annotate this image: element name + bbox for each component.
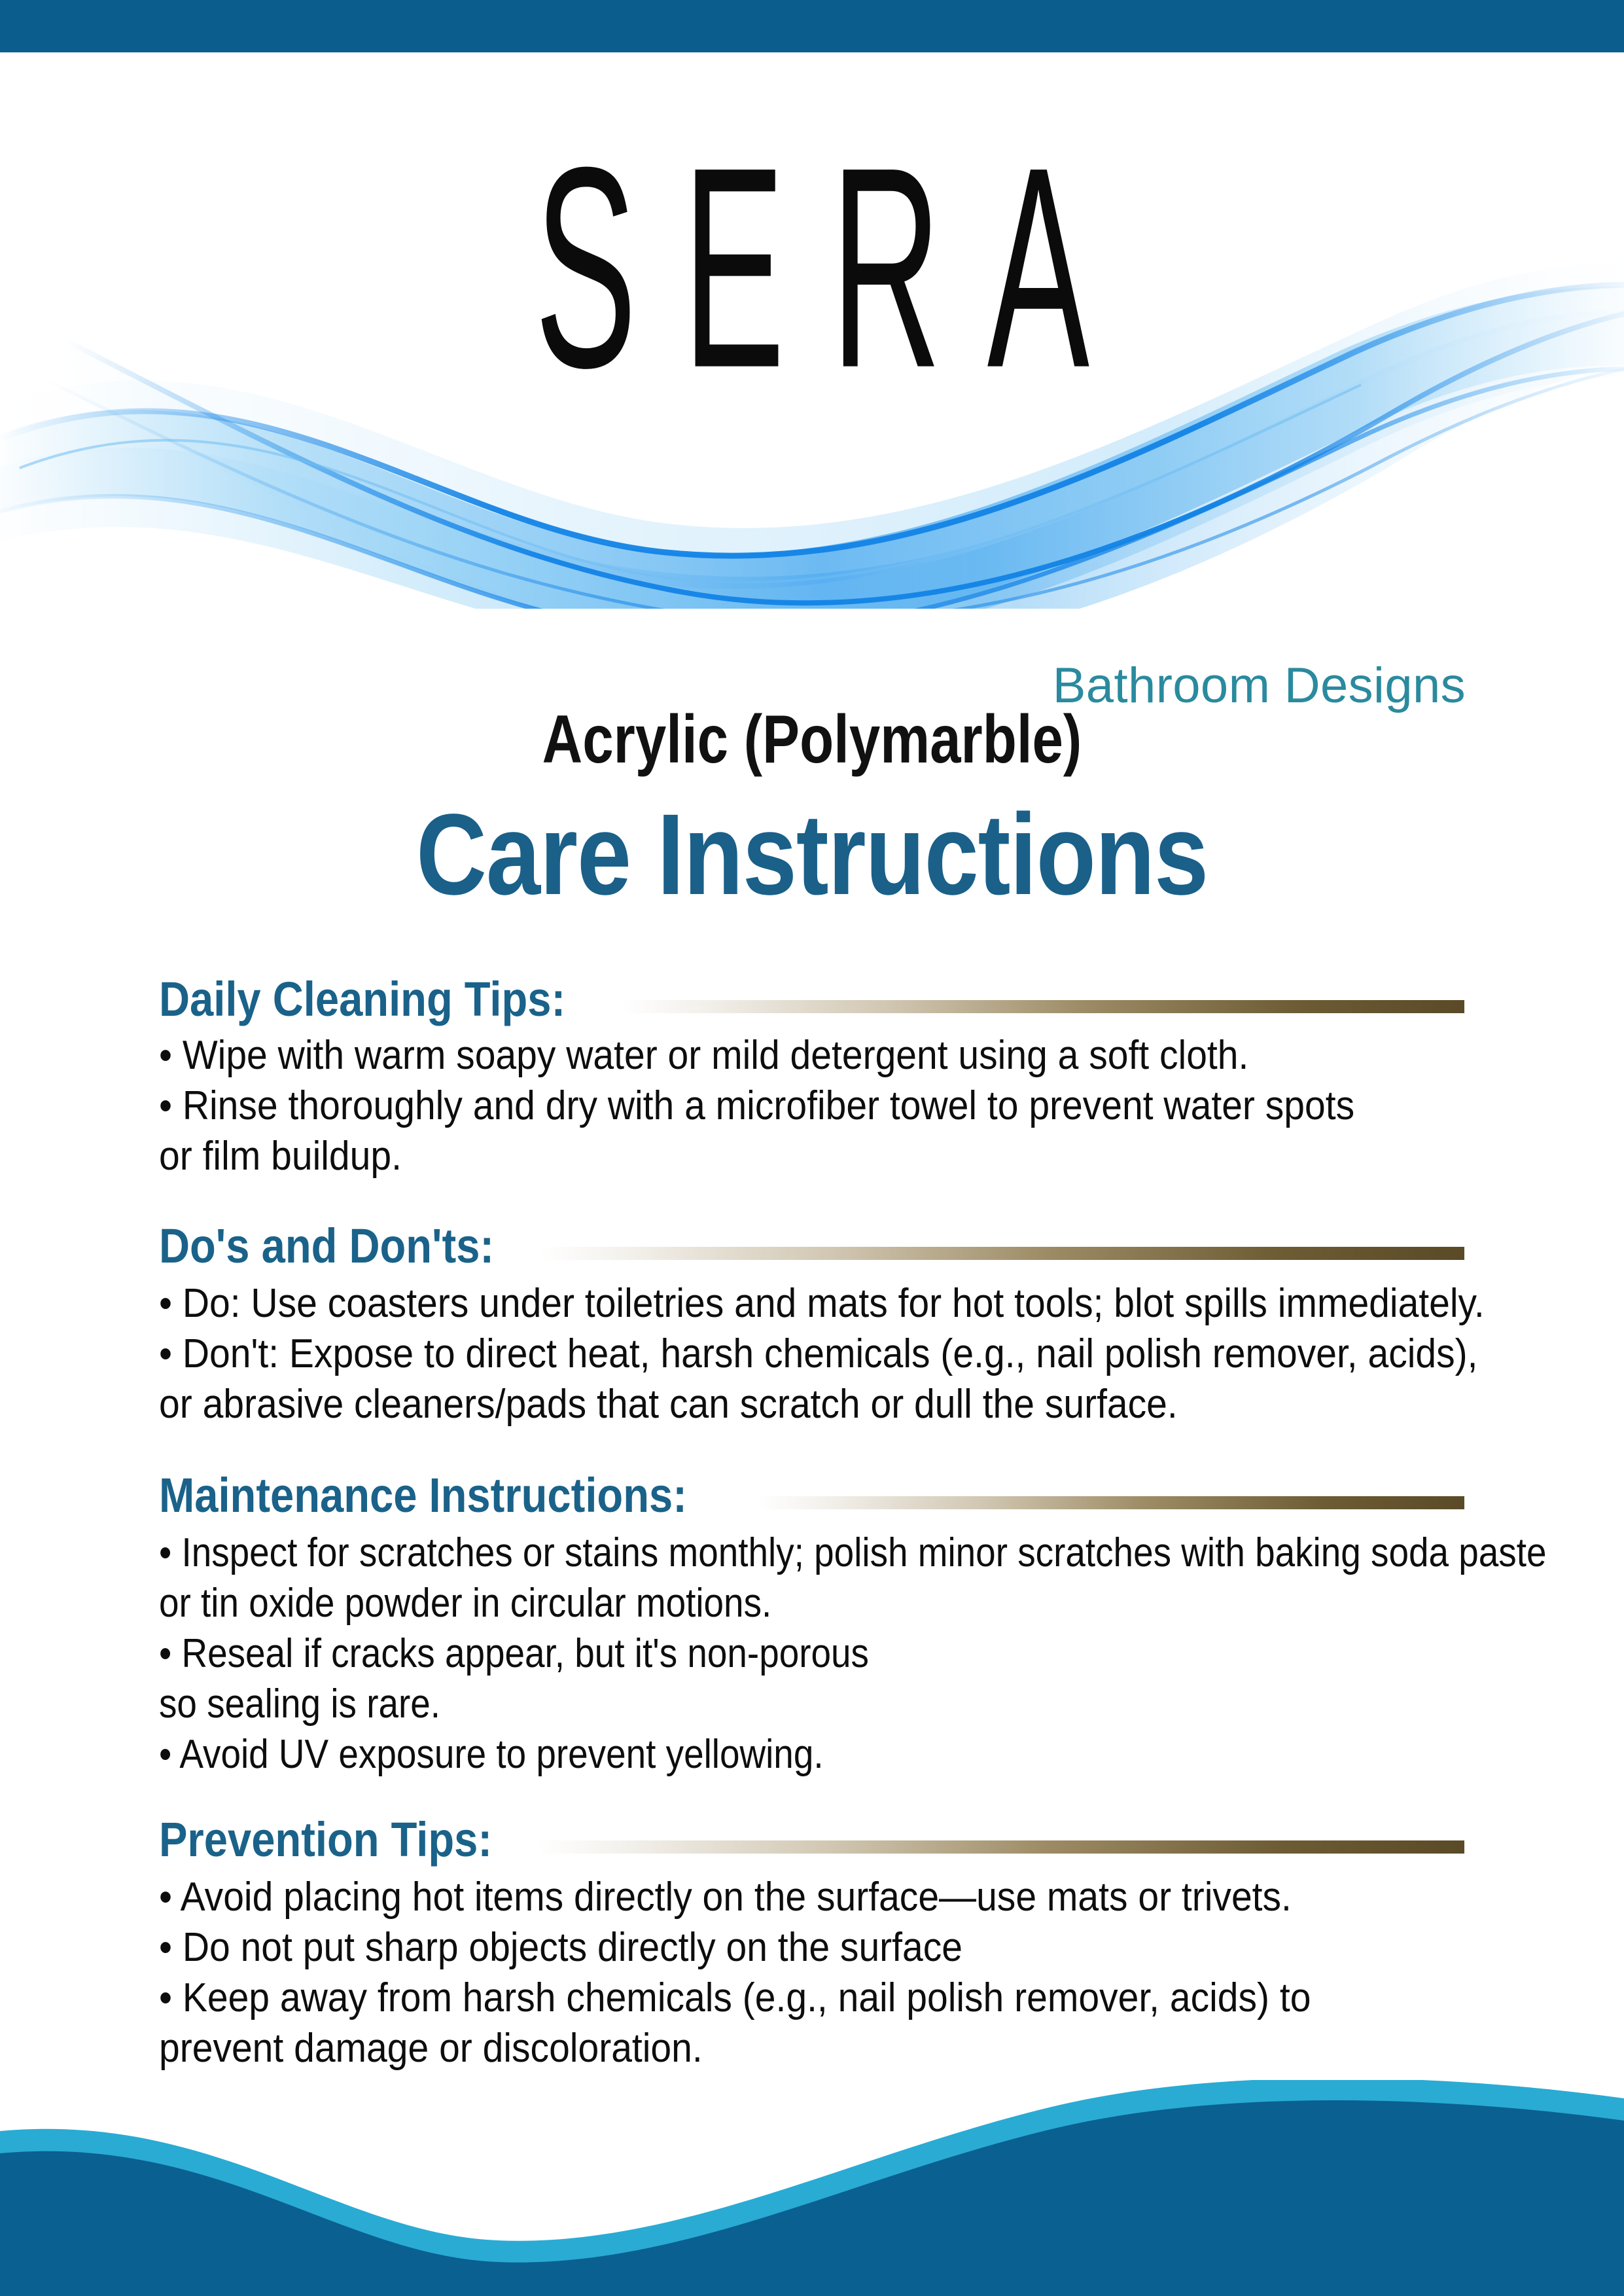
- section-header: Daily Cleaning Tips:: [159, 967, 1464, 1024]
- section-daily-cleaning-tips: Daily Cleaning Tips: • Wipe with warm so…: [159, 967, 1468, 1179]
- bullet-line: • Rinse thoroughly and dry with a microf…: [159, 1085, 1363, 1128]
- section-title: Prevention Tips:: [159, 1816, 492, 1864]
- section-header: Maintenance Instructions:: [159, 1463, 1464, 1520]
- poster-page: SERA: [0, 0, 1624, 2296]
- section-title: Maintenance Instructions:: [159, 1471, 687, 1520]
- bullet-line: • Keep away from harsh chemicals (e.g., …: [159, 1977, 1363, 2020]
- brand-tagline: Bathroom Designs: [1053, 661, 1466, 711]
- bullet-list: • Do: Use coasters under toiletries and …: [159, 1282, 1468, 1427]
- bullet-line: • Avoid UV exposure to prevent yellowing…: [159, 1733, 1317, 1777]
- bullet-line: • Avoid placing hot items directly on th…: [159, 1876, 1363, 1920]
- brand-header: SERA: [0, 52, 1624, 707]
- top-blue-band: [0, 0, 1624, 52]
- section-prevention-tips: Prevention Tips: • Avoid placing hot ite…: [159, 1808, 1468, 2071]
- section-divider-rule: [537, 1840, 1464, 1854]
- bullet-line: • Do: Use coasters under toiletries and …: [159, 1282, 1363, 1326]
- bullet-line: or abrasive cleaners/pads that can scrat…: [159, 1383, 1363, 1427]
- bullet-list: • Inspect for scratches or stains monthl…: [159, 1532, 1468, 1777]
- section-title: Do's and Don'ts:: [159, 1222, 494, 1270]
- section-divider-rule: [621, 1000, 1464, 1013]
- section-divider-rule: [540, 1247, 1464, 1260]
- bullet-line: or tin oxide powder in circular motions.: [159, 1582, 1317, 1626]
- footer-wave-graphic: [0, 2080, 1624, 2296]
- bullet-line: so sealing is rare.: [159, 1683, 1317, 1727]
- section-header: Prevention Tips:: [159, 1808, 1464, 1864]
- section-maintenance-instructions: Maintenance Instructions: • Inspect for …: [159, 1463, 1468, 1777]
- bullet-line: or film buildup.: [159, 1135, 1363, 1179]
- sera-logo-wordmark: SERA: [325, 124, 1299, 410]
- bullet-line: • Do not put sharp objects directly on t…: [159, 1926, 1363, 1970]
- product-subtitle: Acrylic (Polymarble): [146, 706, 1477, 774]
- bullet-line: • Don't: Expose to direct heat, harsh ch…: [159, 1333, 1363, 1376]
- bullet-line: • Reseal if cracks appear, but it's non-…: [159, 1632, 1317, 1676]
- section-header: Do's and Don'ts:: [159, 1214, 1464, 1270]
- bullet-line: • Inspect for scratches or stains monthl…: [159, 1532, 1317, 1575]
- bullet-line: • Wipe with warm soapy water or mild det…: [159, 1034, 1363, 1078]
- bullet-list: • Avoid placing hot items directly on th…: [159, 1876, 1468, 2071]
- instructions-content: Daily Cleaning Tips: • Wipe with warm so…: [159, 967, 1468, 2077]
- section-title: Daily Cleaning Tips:: [159, 975, 565, 1024]
- bullet-list: • Wipe with warm soapy water or mild det…: [159, 1034, 1468, 1179]
- page-title: Care Instructions: [122, 797, 1502, 912]
- bullet-line: prevent damage or discoloration.: [159, 2027, 1363, 2071]
- section-divider-rule: [759, 1496, 1464, 1509]
- section-dos-and-donts: Do's and Don'ts: • Do: Use coasters unde…: [159, 1214, 1468, 1427]
